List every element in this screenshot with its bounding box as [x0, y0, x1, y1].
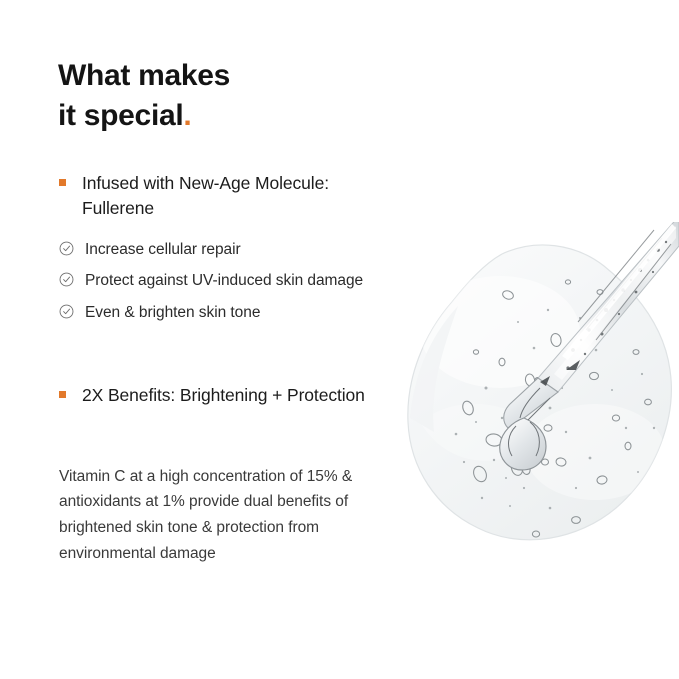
- list-item: Even & brighten skin tone: [59, 302, 459, 324]
- check-circle-icon: [59, 241, 74, 256]
- glass-dropper-pipette: [500, 222, 679, 470]
- feature-2-heading: 2X Benefits: Brightening + Protection: [59, 383, 389, 408]
- checklist-item-label: Even & brighten skin tone: [85, 304, 260, 321]
- feature-2-title: 2X Benefits: Brightening + Protection: [82, 385, 365, 405]
- infographic-page: What makesit special. Infused with New-A…: [0, 0, 679, 679]
- checklist-item-label: Protect against UV-induced skin damage: [85, 272, 363, 289]
- feature-1-heading: Infused with New-Age Molecule: Fullerene: [59, 171, 389, 221]
- feature-block-1: Infused with New-Age Molecule: Fullerene: [59, 171, 389, 221]
- check-circle-icon: [59, 304, 74, 319]
- square-bullet-icon: [59, 179, 66, 186]
- check-circle-icon: [59, 272, 74, 287]
- list-item: Increase cellular repair: [59, 239, 459, 261]
- list-item: Protect against UV-induced skin damage: [59, 270, 459, 292]
- benefit-checklist: Increase cellular repair Protect against…: [59, 239, 459, 333]
- page-title-line-2-wrap: it special.: [58, 96, 230, 136]
- page-title-line-2: it special: [58, 99, 183, 132]
- accent-period: .: [183, 99, 191, 132]
- page-title-line-1: What makes: [58, 59, 230, 92]
- checklist-item-label: Increase cellular repair: [85, 241, 241, 258]
- feature-block-2: 2X Benefits: Brightening + Protection: [59, 383, 389, 408]
- page-title: What makesit special.: [58, 56, 230, 135]
- body-paragraph: Vitamin C at a high concentration of 15%…: [59, 464, 359, 567]
- square-bullet-icon: [59, 391, 66, 398]
- feature-1-title: Infused with New-Age Molecule: Fullerene: [82, 173, 329, 218]
